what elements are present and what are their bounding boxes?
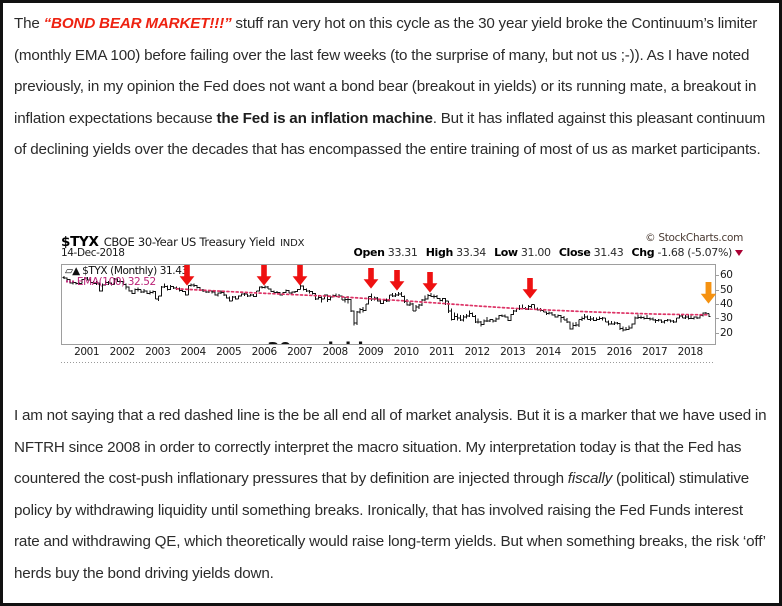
quote-close-value: 31.43 [594, 246, 624, 259]
x-axis-tick-2013: 2013 [500, 346, 525, 358]
x-axis-tick-2009: 2009 [358, 346, 383, 358]
chart-quote-row: Open 33.31 High 33.34 Low 31.00 Close 31… [354, 246, 743, 259]
quote-open-value: 33.31 [388, 246, 418, 259]
x-axis-tick-2008: 2008 [323, 346, 348, 358]
orange-arrow-icon [700, 282, 717, 309]
article-page: The “BOND BEAR MARKET!!!” stuff ran very… [0, 0, 782, 606]
quote-low-label: Low [494, 246, 518, 259]
y-axis-tick-60: 60 [720, 269, 733, 281]
red-arrow-icon [389, 270, 405, 296]
emphasis-bond-bear-market: “BOND BEAR MARKET!!!” [44, 15, 232, 32]
red-arrow-icon [522, 278, 538, 304]
red-arrow-icon [422, 272, 438, 298]
y-axis-tick-50: 50 [720, 284, 733, 296]
paragraph-bottom: I am not saying that a red dashed line i… [14, 400, 772, 589]
quote-low-value: 31.00 [521, 246, 551, 259]
x-axis-tick-2011: 2011 [429, 346, 454, 358]
x-axis-tick-2018: 2018 [678, 346, 703, 358]
quote-chg-value: -1.68 (-5.07%) [657, 246, 732, 259]
x-axis-tick-2006: 2006 [252, 346, 277, 358]
x-axis-tick-2010: 2010 [394, 346, 419, 358]
stockcharts-watermark: © StockCharts.com [645, 232, 743, 244]
x-axis-tick-2017: 2017 [642, 346, 667, 358]
legend-ema-marker-icon: ··· [65, 276, 74, 288]
red-arrow-icon [256, 265, 272, 291]
stockcharts-chart: $TYX CBOE 30-Year US Treasury Yield INDX… [41, 231, 751, 386]
red-arrow-icon [179, 265, 195, 291]
chg-down-triangle-icon [735, 250, 743, 256]
x-axis-tick-2012: 2012 [465, 346, 490, 358]
x-axis-tick-2004: 2004 [181, 346, 206, 358]
legend-ema-series: ··· EMA(100) 32.52 [65, 276, 156, 288]
emphasis-bold: the Fed is an inflation machine [216, 110, 432, 127]
x-axis-tick-2002: 2002 [110, 346, 135, 358]
text-run-0: The [14, 15, 44, 32]
x-axis-tick-2001: 2001 [74, 346, 99, 358]
quote-high-label: High [426, 246, 453, 259]
y-axis-tick-20: 20 [720, 327, 733, 339]
quote-high-value: 33.34 [456, 246, 486, 259]
x-axis-tick-2016: 2016 [607, 346, 632, 358]
x-axis-tick-2003: 2003 [145, 346, 170, 358]
y-axis-tick-40: 40 [720, 298, 733, 310]
quote-close-label: Close [559, 246, 591, 259]
y-axis-tick-30: 30 [720, 312, 733, 324]
chart-description: CBOE 30-Year US Treasury Yield [104, 235, 275, 249]
quote-chg-label: Chg [632, 246, 655, 259]
x-axis-tick-2015: 2015 [571, 346, 596, 358]
legend-ema-label: EMA(100) 32.52 [77, 276, 156, 288]
quote-open-label: Open [354, 246, 385, 259]
x-axis-tick-2007: 2007 [287, 346, 312, 358]
chart-date: 14-Dec-2018 [61, 247, 125, 259]
chart-index-tag: INDX [280, 238, 304, 249]
red-arrow-icon [292, 265, 308, 291]
red-arrow-icon [363, 268, 379, 294]
paragraph-top: The “BOND BEAR MARKET!!!” stuff ran very… [14, 8, 772, 166]
x-axis-tick-2014: 2014 [536, 346, 561, 358]
emphasis-italic: fiscally [568, 470, 612, 487]
x-axis-tick-2005: 2005 [216, 346, 241, 358]
chart-x-axis-line [61, 362, 714, 363]
chart-y-axis: 6050403020 [716, 264, 750, 343]
